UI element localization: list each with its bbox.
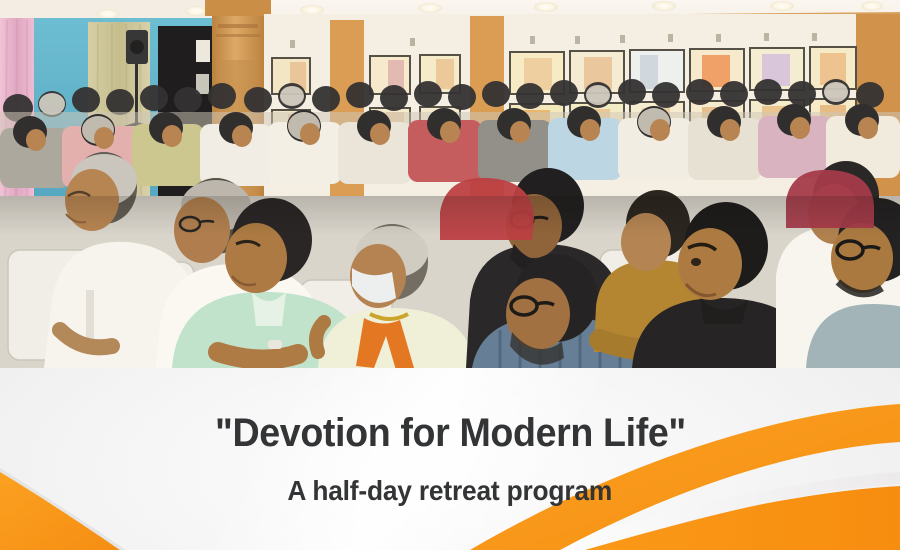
audience-photo-illustration [0, 0, 900, 368]
event-banner: "Devotion for Modern Life" A half-day re… [0, 0, 900, 550]
caption-bar: "Devotion for Modern Life" A half-day re… [0, 368, 900, 550]
event-subtitle: A half-day retreat program [288, 476, 613, 505]
event-title: "Devotion for Modern Life" [215, 412, 686, 454]
caption-text-group: "Devotion for Modern Life" A half-day re… [0, 368, 900, 550]
audience-photo [0, 0, 900, 368]
